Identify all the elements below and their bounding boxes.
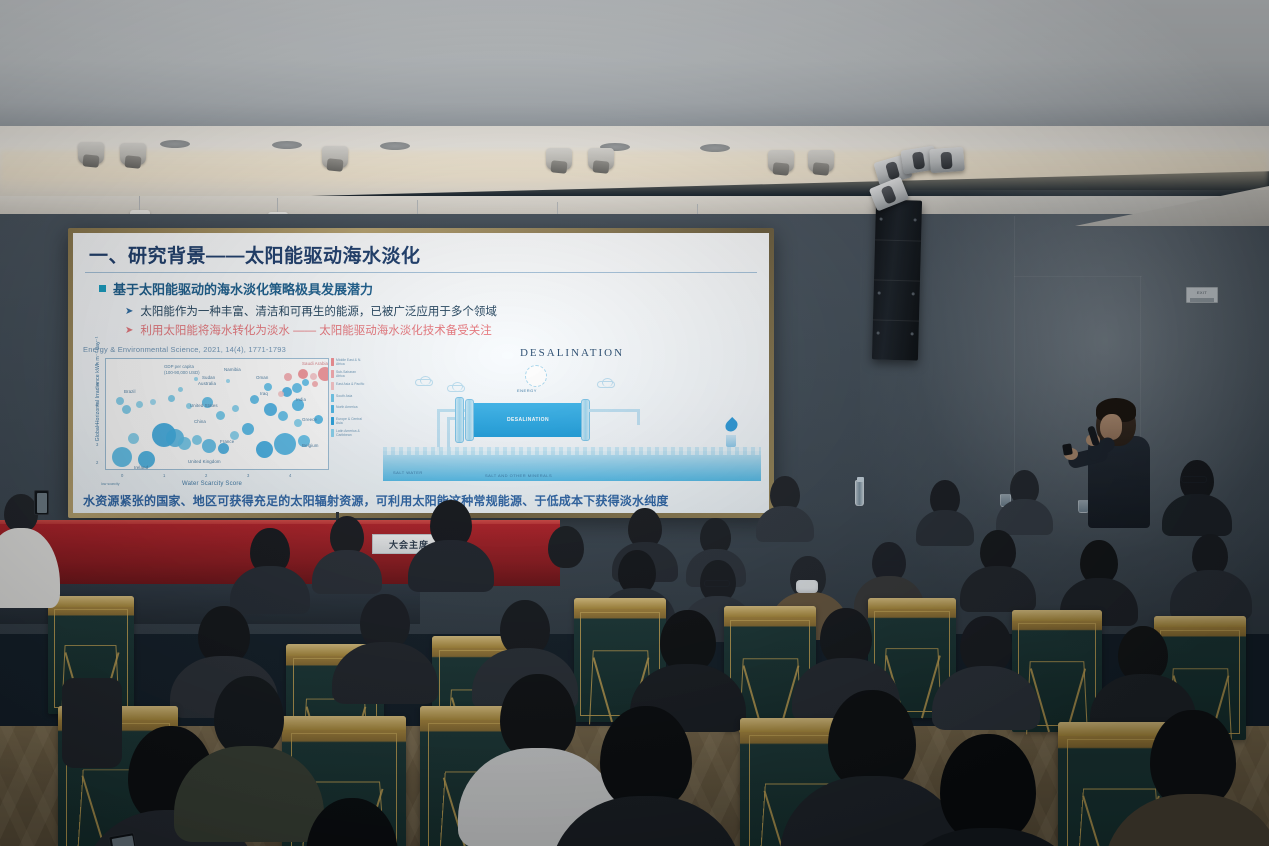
- chart-point-label: Saudi Arabia: [302, 361, 328, 366]
- legend-label: Middle East & N. Africa: [336, 358, 365, 367]
- legend-item: Sub-Saharan Africa: [331, 370, 365, 379]
- chart-bubble-size-note: GDP per capita(100-90,000 USD): [164, 364, 200, 376]
- arrow-bullet-icon: ➤: [125, 306, 133, 317]
- ceiling-slab: [0, 0, 1269, 132]
- ceiling-spotlight: [120, 143, 146, 165]
- legend-label: East Asia & Pacific: [336, 382, 364, 386]
- slide-bullet-level1: 基于太阳能驱动的海水淡化策略极具发展潜力: [83, 279, 759, 298]
- slide-bullet-level2-highlight-text: 利用太阳能将海水转化为淡水 —— 太阳能驱动海水淡化技术备受关注: [140, 322, 491, 338]
- legend-item: North America: [331, 405, 365, 413]
- chart-point-label: Sudan: [202, 375, 215, 380]
- stage-light: [929, 147, 965, 173]
- sun-icon: [525, 365, 547, 387]
- legend-item: South Asia: [331, 394, 365, 402]
- citation-text: Energy & Environmental Science, 2021, 14…: [83, 345, 286, 354]
- smartphone[interactable]: [34, 490, 49, 515]
- cloud-icon: [447, 385, 465, 392]
- exit-sign: EXIT: [1186, 287, 1218, 303]
- cloud-icon: [597, 381, 615, 388]
- ceiling-recess: [272, 141, 302, 149]
- ceiling-spotlight: [808, 150, 834, 172]
- chart-point-label: Iraq: [260, 391, 268, 396]
- chart-legend: Middle East & N. Africa Sub-Saharan Afri…: [331, 358, 365, 441]
- slide-bullet-level2-text: 太阳能作为一种丰富、清洁和可再生的能源，已被广泛应用于多个领域: [140, 303, 497, 319]
- chart-point-label: China: [194, 419, 206, 424]
- legend-item: Middle East & N. Africa: [331, 358, 365, 367]
- legend-item: Europe & Central Asia: [331, 417, 365, 426]
- ceiling-spotlight: [78, 142, 104, 164]
- ceiling-spotlight: [322, 146, 348, 168]
- line-array-speaker: [872, 199, 922, 360]
- legend-label: Europe & Central Asia: [336, 417, 365, 426]
- figure-citation: Energy & Environmental Science, 2021, 14…: [83, 345, 373, 354]
- slide-bullet-level2-highlighted: ➤ 利用太阳能将海水转化为淡水 —— 太阳能驱动海水淡化技术备受关注: [83, 322, 759, 338]
- ceiling-spotlight: [768, 150, 794, 172]
- energy-label: ENERGY: [517, 388, 537, 393]
- chart-point-label: United States: [190, 403, 218, 408]
- legend-label: South Asia: [336, 394, 352, 398]
- legend-label: North America: [336, 405, 357, 409]
- arrow-bullet-icon: ➤: [125, 325, 133, 336]
- legend-item: East Asia & Pacific: [331, 382, 365, 390]
- chart-point-label: Namibia: [224, 367, 241, 372]
- ceiling-recess: [380, 142, 410, 150]
- chart-point-label: Brazil: [124, 389, 136, 394]
- exit-sign-label: EXIT: [1197, 290, 1207, 295]
- desalination-title: DESALINATION: [383, 347, 761, 359]
- cloud-icon: [415, 379, 433, 386]
- ceiling-spotlight: [546, 148, 572, 170]
- legend-label: Sub-Saharan Africa: [336, 370, 365, 379]
- square-bullet-icon: [99, 285, 106, 292]
- chart-point-label: India: [296, 397, 306, 402]
- ceiling-recess: [700, 144, 730, 152]
- chart-point-label: Oman: [256, 375, 268, 380]
- slide-bullet-level2: ➤ 太阳能作为一种丰富、清洁和可再生的能源，已被广泛应用于多个领域: [83, 303, 759, 319]
- chart-point-label: Australia: [198, 381, 216, 386]
- pipe: [589, 409, 639, 412]
- ceiling-spotlight: [588, 148, 614, 170]
- audience: [0, 430, 1269, 846]
- title-divider: [85, 272, 757, 273]
- ceiling-recess: [160, 140, 190, 148]
- chart-point-label: Greece: [302, 417, 317, 422]
- conference-room-photo: EXIT 一、研究背景——太阳能驱动海水淡化 基于太阳能驱动的海水淡化策略极具发…: [0, 0, 1269, 846]
- slide-bullet-level1-text: 基于太阳能驱动的海水淡化策略极具发展潜力: [113, 279, 373, 298]
- slide-title: 一、研究背景——太阳能驱动海水淡化: [83, 239, 759, 272]
- pipe: [637, 409, 640, 425]
